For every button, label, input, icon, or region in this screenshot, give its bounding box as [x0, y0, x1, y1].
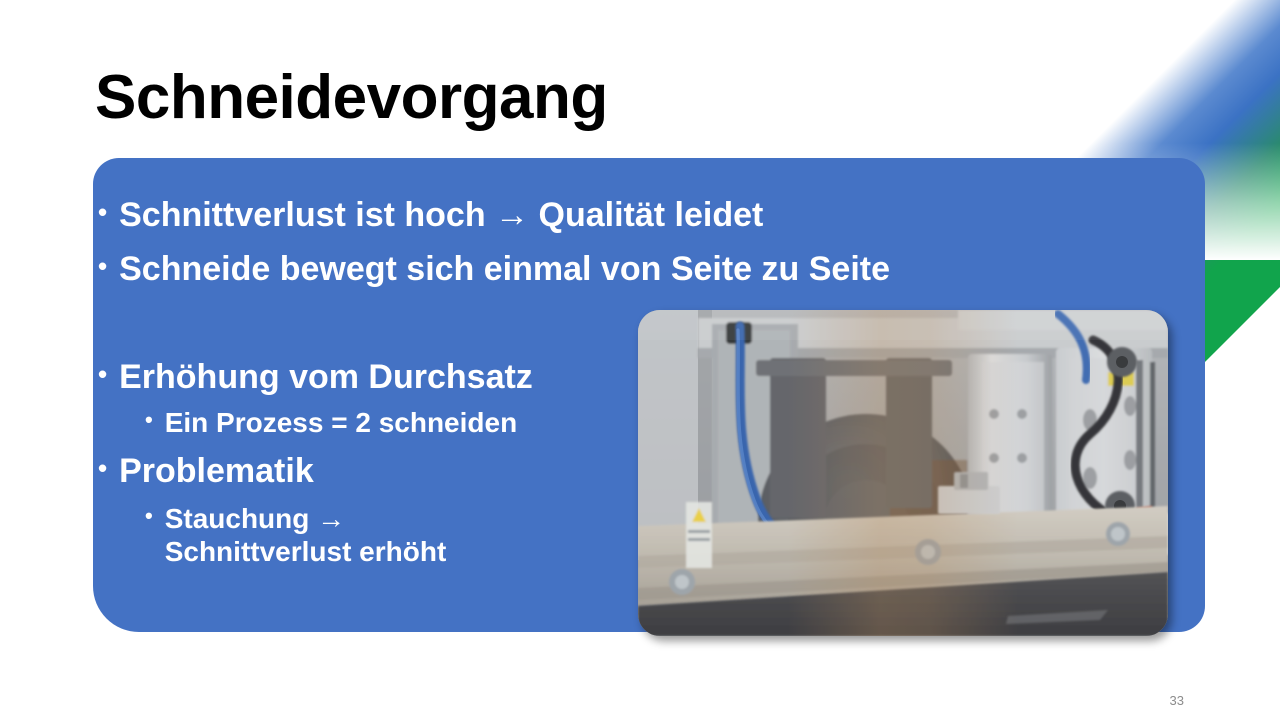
sub-list-item: • Ein Prozess = 2 schneiden: [145, 406, 517, 439]
bullet-marker-icon: •: [145, 409, 153, 431]
page-title: Schneidevorgang: [95, 62, 608, 133]
sub-list-item: • Stauchung → Schnittverlust erhöht: [145, 502, 446, 568]
list-item-label: Schneide bewegt sich einmal von Seite zu…: [119, 250, 890, 289]
sub-list-item-label: Stauchung → Schnittverlust erhöht: [165, 502, 447, 568]
bullet-marker-icon: •: [98, 253, 107, 279]
bullet-marker-icon: •: [145, 505, 153, 527]
page-number: 33: [1170, 693, 1184, 708]
list-item: • Erhöhung vom Durchsatz: [98, 358, 533, 397]
list-item: • Schneide bewegt sich einmal von Seite …: [98, 250, 890, 289]
bullet-marker-icon: •: [98, 361, 107, 387]
machine-photo: [638, 310, 1168, 636]
presentation-slide: Schneidevorgang • Schnittverlust ist hoc…: [0, 0, 1280, 720]
list-item: • Problematik: [98, 452, 314, 491]
list-item-label: Problematik: [119, 452, 314, 491]
list-item: • Schnittverlust ist hoch → Qualität lei…: [98, 196, 763, 235]
bullet-marker-icon: •: [98, 199, 107, 225]
bullet-marker-icon: •: [98, 455, 107, 481]
sub-list-item-label: Ein Prozess = 2 schneiden: [165, 406, 517, 439]
list-item-label: Erhöhung vom Durchsatz: [119, 358, 533, 397]
list-item-label: Schnittverlust ist hoch → Qualität leide…: [119, 196, 763, 235]
